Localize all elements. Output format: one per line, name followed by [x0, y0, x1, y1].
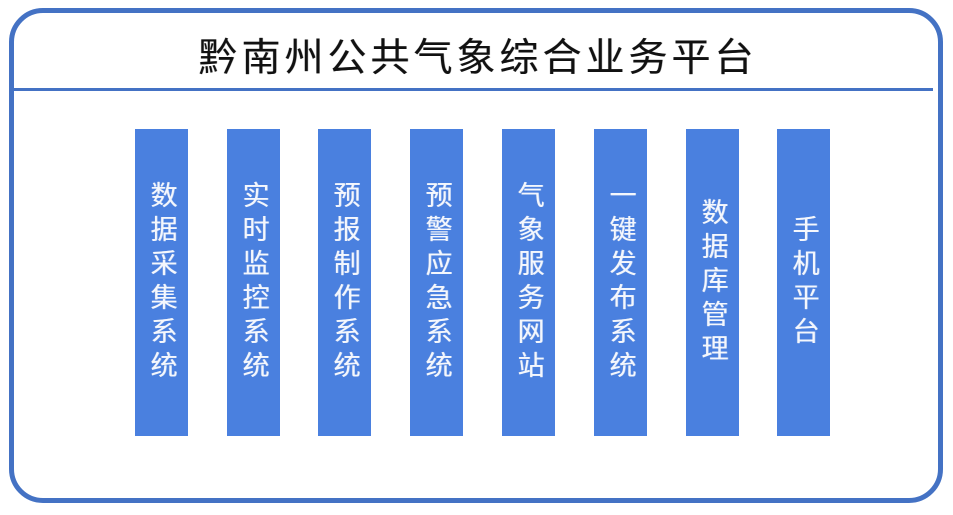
system-bar-label: 一键发布系统 — [604, 181, 638, 385]
system-bar-label: 预报制作系统 — [328, 181, 362, 385]
system-bar-weather-service-website[interactable]: 气象服务网站 — [502, 129, 555, 436]
system-bars-row: 数据采集系统 实时监控系统 预报制作系统 预警应急系统 气象服务网站 一键发布系… — [126, 129, 839, 436]
page-title: 黔南州公共气象综合业务平台 — [194, 39, 757, 78]
system-bar-data-collection[interactable]: 数据采集系统 — [135, 129, 188, 436]
system-bar-warning-emergency[interactable]: 预警应急系统 — [410, 129, 463, 436]
system-bar-database-management[interactable]: 数据库管理 — [686, 129, 739, 436]
system-bar-forecast-production[interactable]: 预报制作系统 — [318, 129, 371, 436]
system-bar-label: 数据库管理 — [696, 198, 730, 368]
system-bar-one-click-publish[interactable]: 一键发布系统 — [594, 129, 647, 436]
system-bar-mobile-platform[interactable]: 手机平台 — [777, 129, 830, 436]
system-bar-label: 数据采集系统 — [145, 181, 179, 385]
system-bar-label: 手机平台 — [787, 215, 821, 351]
system-bar-label: 实时监控系统 — [237, 181, 271, 385]
diagram-canvas: 黔南州公共气象综合业务平台 数据采集系统 实时监控系统 预报制作系统 预警应急系… — [0, 0, 953, 515]
system-bar-label: 预警应急系统 — [420, 181, 454, 385]
system-bar-realtime-monitoring[interactable]: 实时监控系统 — [227, 129, 280, 436]
system-bar-label: 气象服务网站 — [512, 181, 546, 385]
header-divider — [9, 88, 933, 91]
